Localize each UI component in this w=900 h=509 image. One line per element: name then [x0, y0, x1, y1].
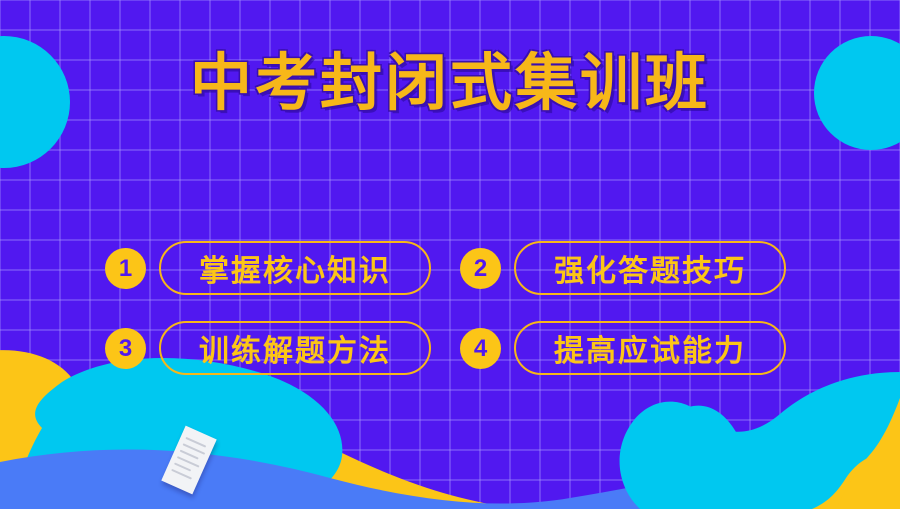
- list-item[interactable]: 1 掌握核心知识: [105, 241, 460, 295]
- list-item[interactable]: 2 强化答题技巧: [460, 241, 815, 295]
- page-title: 中考封闭式集训班: [0, 50, 900, 118]
- item-number-badge: 2: [460, 248, 501, 289]
- item-pill[interactable]: 掌握核心知识: [159, 241, 431, 295]
- item-pill[interactable]: 提高应试能力: [514, 321, 786, 375]
- item-pill[interactable]: 强化答题技巧: [514, 241, 786, 295]
- list-item[interactable]: 4 提高应试能力: [460, 321, 815, 375]
- item-pill[interactable]: 训练解题方法: [159, 321, 431, 375]
- item-label: 训练解题方法: [199, 326, 391, 370]
- item-label: 强化答题技巧: [554, 246, 746, 290]
- item-number-badge: 4: [460, 328, 501, 369]
- poster-canvas: 中考封闭式集训班 1 掌握核心知识 2 强化答题技巧 3 训练解题方法: [0, 0, 900, 509]
- feature-list: 1 掌握核心知识 2 强化答题技巧 3 训练解题方法 4: [105, 228, 815, 388]
- item-label: 掌握核心知识: [199, 246, 391, 290]
- item-number-badge: 3: [105, 328, 146, 369]
- poster-content: 中考封闭式集训班 1 掌握核心知识 2 强化答题技巧 3 训练解题方法: [0, 0, 900, 509]
- item-label: 提高应试能力: [554, 326, 746, 370]
- list-item[interactable]: 3 训练解题方法: [105, 321, 460, 375]
- item-number-badge: 1: [105, 248, 146, 289]
